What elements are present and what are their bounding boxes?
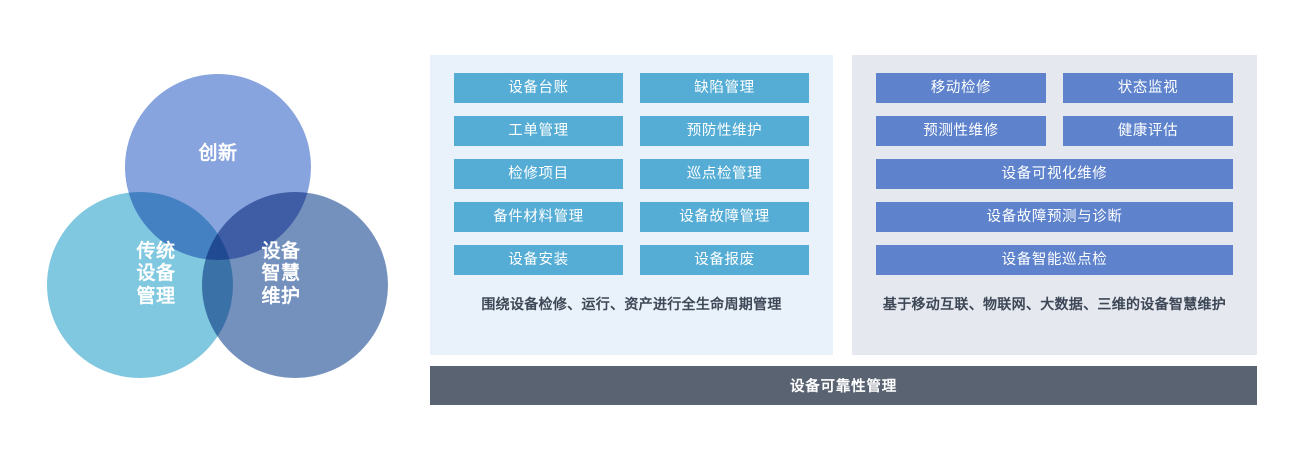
panels-row: 设备台账缺陷管理工单管理预防性维护检修项目巡点检管理备件材料管理设备故障管理设备…: [430, 55, 1257, 355]
tile-traditional-1[interactable]: 缺陷管理: [640, 73, 809, 103]
tile-traditional-7[interactable]: 设备故障管理: [640, 202, 809, 232]
tile-smart-2[interactable]: 预测性维修: [876, 116, 1046, 146]
tile-grid-smart: 移动检修状态监视预测性维修健康评估设备可视化维修设备故障预测与诊断设备智能巡点检: [876, 73, 1233, 275]
tile-smart-3[interactable]: 健康评估: [1063, 116, 1233, 146]
panel-smart-equipment-maintenance: 移动检修状态监视预测性维修健康评估设备可视化维修设备故障预测与诊断设备智能巡点检…: [852, 55, 1257, 355]
footer-banner-label: 设备可靠性管理: [790, 375, 897, 396]
venn-diagram: 创新 传统 设备 管理 设备 智慧 维护: [40, 68, 395, 383]
tile-smart-5[interactable]: 设备故障预测与诊断: [876, 202, 1233, 232]
panel-caption-traditional: 围绕设备检修、运行、资产进行全生命周期管理: [454, 294, 809, 316]
tile-smart-6[interactable]: 设备智能巡点检: [876, 245, 1233, 275]
tile-traditional-0[interactable]: 设备台账: [454, 73, 623, 103]
tile-traditional-8[interactable]: 设备安装: [454, 245, 623, 275]
panel-caption-smart: 基于移动互联、物联网、大数据、三维的设备智慧维护: [876, 294, 1233, 316]
footer-banner-equipment-reliability-management: 设备可靠性管理: [430, 366, 1257, 405]
tile-smart-1[interactable]: 状态监视: [1063, 73, 1233, 103]
tile-traditional-5[interactable]: 巡点检管理: [640, 159, 809, 189]
tile-smart-0[interactable]: 移动检修: [876, 73, 1046, 103]
venn-circle-smart: [202, 192, 388, 378]
tile-traditional-2[interactable]: 工单管理: [454, 116, 623, 146]
tile-traditional-4[interactable]: 检修项目: [454, 159, 623, 189]
tile-smart-4[interactable]: 设备可视化维修: [876, 159, 1233, 189]
tile-traditional-9[interactable]: 设备报废: [640, 245, 809, 275]
tile-traditional-6[interactable]: 备件材料管理: [454, 202, 623, 232]
panel-traditional-equipment-management: 设备台账缺陷管理工单管理预防性维护检修项目巡点检管理备件材料管理设备故障管理设备…: [430, 55, 833, 355]
venn-circles: [40, 68, 395, 383]
tile-grid-traditional: 设备台账缺陷管理工单管理预防性维护检修项目巡点检管理备件材料管理设备故障管理设备…: [454, 73, 809, 275]
tile-traditional-3[interactable]: 预防性维护: [640, 116, 809, 146]
